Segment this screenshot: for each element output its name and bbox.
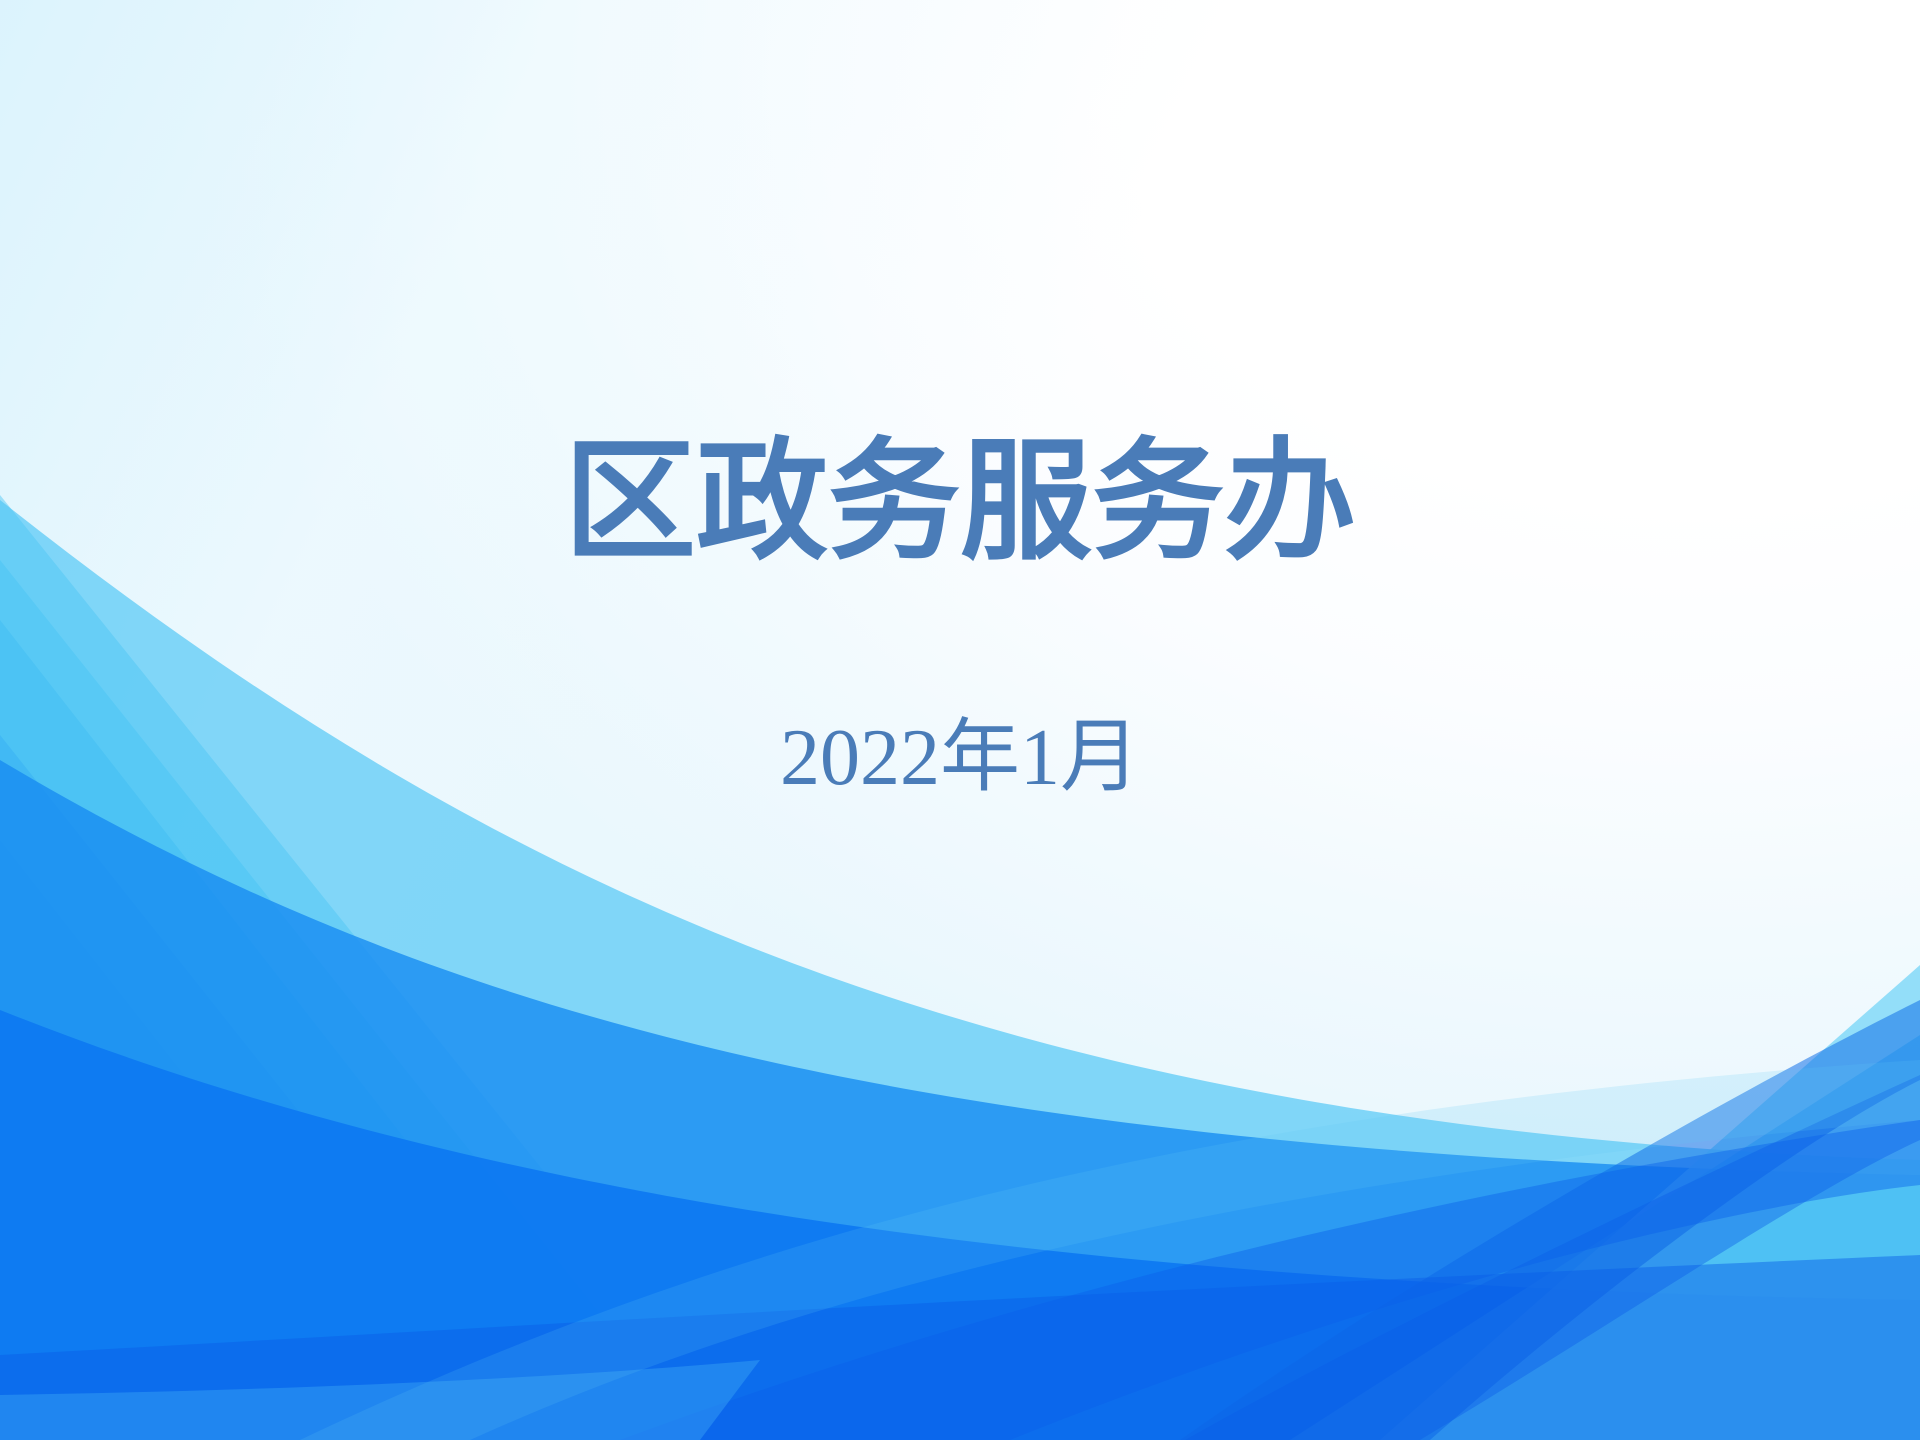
presentation-slide: 区政务服务办 2022年1月 [0, 0, 1920, 1440]
slide-title: 区政务服务办 [0, 430, 1920, 575]
slide-subtitle: 2022年1月 [0, 712, 1920, 804]
slide-content: 区政务服务办 2022年1月 [0, 0, 1920, 1440]
